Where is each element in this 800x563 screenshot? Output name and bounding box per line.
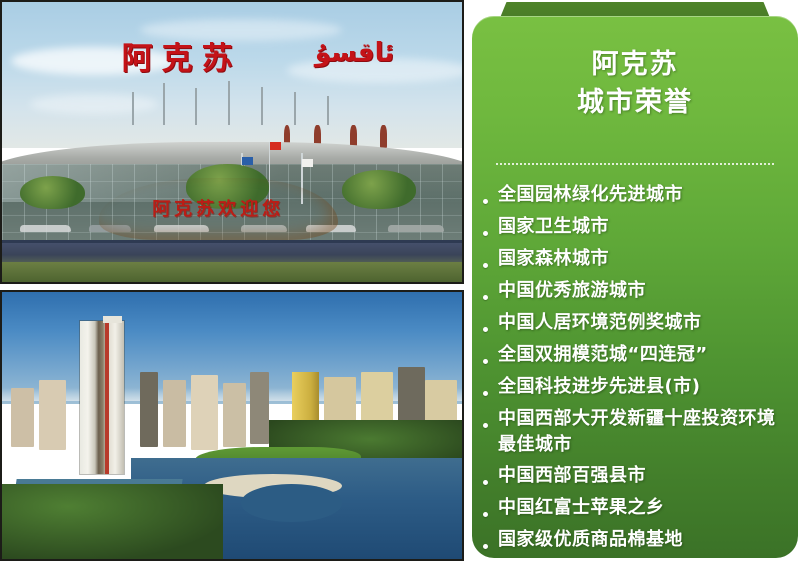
honor-item: 全国园林绿化先进城市	[472, 182, 798, 209]
forest	[2, 484, 223, 559]
white-highrise-tower	[80, 321, 124, 473]
honor-label: 国家森林城市	[498, 246, 786, 272]
honor-label: 全国双拥模范城“四连冠”	[498, 342, 786, 368]
photo-column: 阿克苏 ئاقسۇ	[0, 0, 464, 563]
bullet-icon	[472, 342, 498, 369]
honor-label: 国家卫生城市	[498, 214, 786, 240]
bullet-icon	[472, 246, 498, 273]
hedge	[2, 262, 462, 282]
honor-label: 中国西部大开发新疆十座投资环境最佳城市	[498, 406, 786, 458]
photo-aksu-station: 阿克苏 ئاقسۇ	[0, 0, 464, 284]
panel-title: 阿克苏 城市荣誉	[472, 46, 798, 123]
photo-aksu-cityscape	[0, 290, 464, 561]
honor-item: 国家卫生城市	[472, 214, 798, 241]
tree	[20, 176, 84, 210]
honor-item: 中国人居环境范例奖城市	[472, 310, 798, 337]
tree	[342, 170, 416, 209]
bullet-icon	[472, 406, 498, 433]
bullet-icon	[472, 527, 498, 554]
honor-item: 中国西部百强县市	[472, 463, 798, 490]
honor-label: 全国科技进步先进县(市)	[498, 374, 786, 400]
honor-item: 国家森林城市	[472, 246, 798, 273]
poster-root: 阿克苏 ئاقسۇ	[0, 0, 800, 563]
honors-panel: 阿克苏 城市荣誉 全国园林绿化先进城市国家卫生城市国家森林城市中国优秀旅游城市中…	[472, 0, 798, 560]
title-divider	[496, 163, 774, 165]
bullet-icon	[472, 310, 498, 337]
bullet-icon	[472, 182, 498, 209]
honor-item: 全国双拥模范城“四连冠”	[472, 342, 798, 369]
honor-label: 国家级优质商品棉基地	[498, 527, 786, 553]
panel-body: 阿克苏 城市荣誉 全国园林绿化先进城市国家卫生城市国家森林城市中国优秀旅游城市中…	[472, 16, 798, 558]
panel-title-line1: 阿克苏	[472, 46, 798, 84]
bullet-icon	[472, 463, 498, 490]
tower-rooftop	[103, 316, 121, 323]
honor-item: 中国西部大开发新疆十座投资环境最佳城市	[472, 406, 798, 458]
honor-label: 中国红富士苹果之乡	[498, 495, 786, 521]
bullet-icon	[472, 214, 498, 241]
panel-title-line2: 城市荣誉	[472, 84, 798, 122]
bullet-icon	[472, 374, 498, 401]
honor-item: 国家级优质商品棉基地	[472, 527, 798, 554]
honor-label: 中国西部百强县市	[498, 463, 786, 489]
honor-label: 全国园林绿化先进城市	[498, 182, 786, 208]
sign-support-poles	[117, 78, 370, 126]
pond	[241, 484, 342, 521]
honor-label: 中国优秀旅游城市	[498, 278, 786, 304]
honor-item: 中国优秀旅游城市	[472, 278, 798, 305]
roof-sign-chinese: 阿克苏	[122, 33, 242, 78]
honor-item: 中国红富士苹果之乡	[472, 495, 798, 522]
honor-item: 全国科技进步先进县(市)	[472, 374, 798, 401]
honors-list: 全国园林绿化先进城市国家卫生城市国家森林城市中国优秀旅游城市中国人居环境范例奖城…	[472, 182, 798, 559]
bullet-icon	[472, 278, 498, 305]
bullet-icon	[472, 495, 498, 522]
honor-label: 中国人居环境范例奖城市	[498, 310, 786, 336]
roof-sign-uyghur: ئاقسۇ	[315, 38, 394, 68]
stone-inscription: 阿克苏欢迎您	[112, 195, 324, 221]
